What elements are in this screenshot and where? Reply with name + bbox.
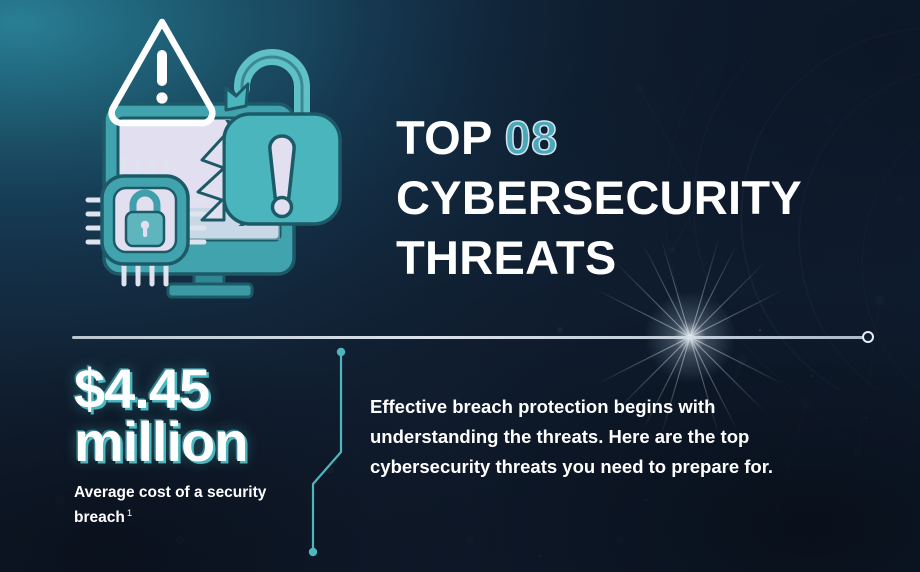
stat-caption: Average cost of a security breach1 (74, 482, 304, 528)
title-line-2: CYBERSECURITY (396, 168, 866, 228)
page-title: TOP08 CYBERSECURITY THREATS (396, 108, 866, 288)
intro-paragraph: Effective breach protection begins with … (370, 392, 806, 482)
infographic-canvas: TOP08 CYBERSECURITY THREATS $4.45 millio… (0, 0, 920, 572)
stat-value-line-2: million (74, 415, 354, 468)
title-top-label: TOP (396, 111, 493, 164)
section-divider (72, 336, 864, 339)
key-statistic: $4.45 million Average cost of a security… (74, 362, 354, 528)
cybersecurity-breach-illustration (76, 8, 376, 308)
divider-end-dot (862, 331, 874, 343)
title-line-1: TOP08 (396, 108, 866, 168)
title-line-3: THREATS (396, 228, 866, 288)
title-count-number: 08 (505, 111, 558, 164)
stat-value: $4.45 million (74, 362, 354, 468)
footnote-marker: 1 (127, 508, 132, 519)
stat-caption-text: Average cost of a security breach (74, 484, 266, 526)
